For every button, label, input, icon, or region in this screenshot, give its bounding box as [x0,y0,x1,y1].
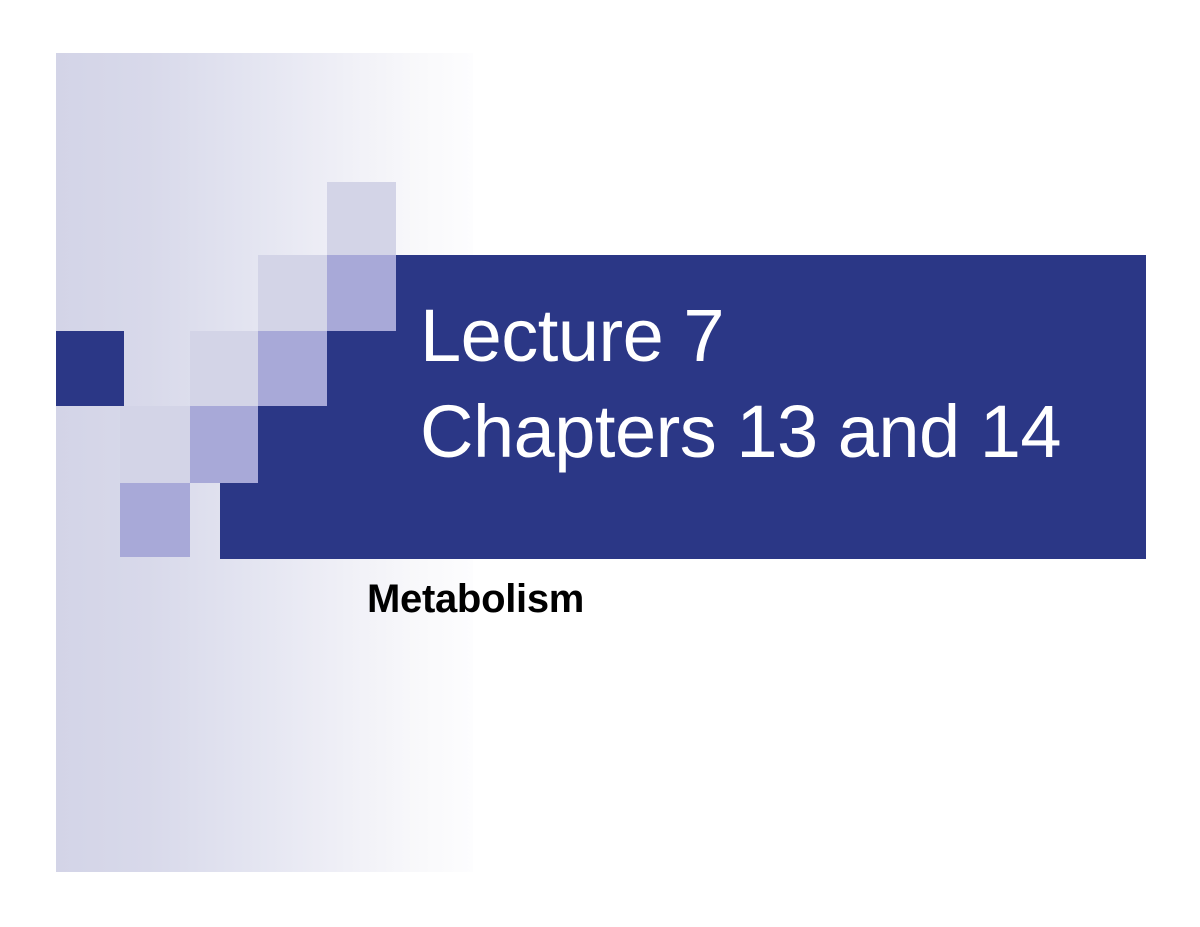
slide-title: Lecture 7 Chapters 13 and 14 [420,288,1120,480]
staircase-square-mid-3 [190,406,258,483]
staircase-square-light-2 [258,255,327,331]
staircase-square-light-1 [327,182,396,255]
slide-canvas: Lecture 7 Chapters 13 and 14 Metabolism [0,0,1200,927]
slide-title-line-2: Chapters 13 and 14 [420,384,1120,480]
staircase-square-light-3 [190,331,258,406]
staircase-square-mid-1 [327,255,396,331]
staircase-square-mid-2 [258,331,327,406]
accent-square-dark [56,331,124,406]
staircase-square-mid-4 [120,483,190,557]
slide-subtitle: Metabolism [367,575,584,623]
staircase-square-light-4 [120,406,190,483]
slide-title-line-1: Lecture 7 [420,288,1120,384]
